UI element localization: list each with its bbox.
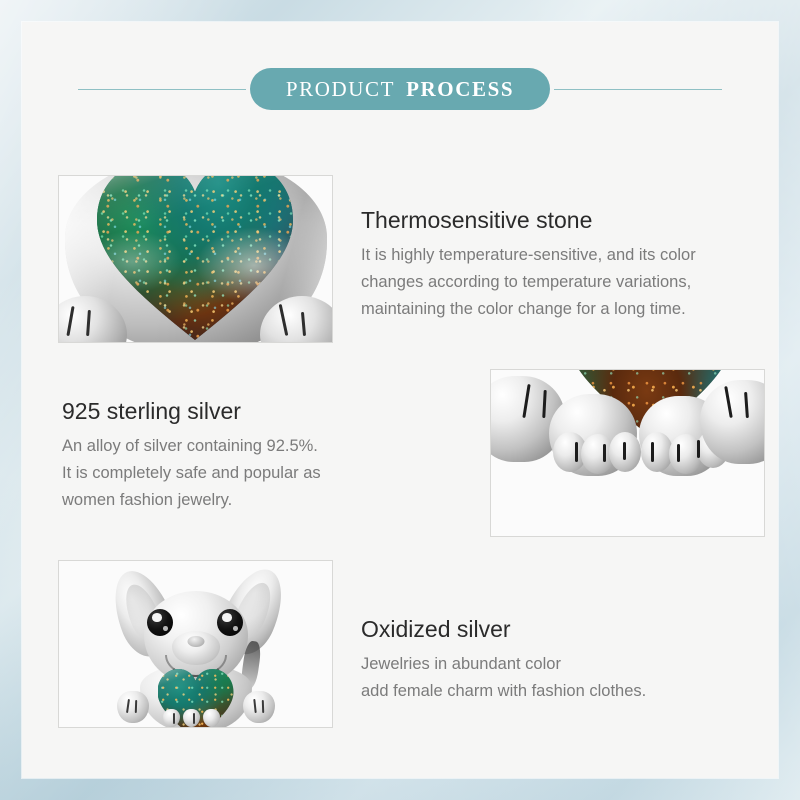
description-line: women fashion jewelry. bbox=[62, 487, 462, 514]
eye-highlight-small bbox=[233, 626, 238, 631]
feature-description: It is highly temperature-sensitive, and … bbox=[361, 242, 781, 322]
toe-claw-line bbox=[173, 713, 175, 724]
feature-image-925-sterling-silver bbox=[490, 369, 765, 537]
description-line: changes according to temperature variati… bbox=[361, 269, 781, 296]
feature-title: Oxidized silver bbox=[361, 616, 761, 642]
feature-description: Jewelries in abundant color add female c… bbox=[361, 651, 761, 704]
feature-text-925-sterling-silver: 925 sterling silver An alloy of silver c… bbox=[62, 398, 462, 514]
paw-claw-line bbox=[301, 312, 306, 336]
title-word-process: PROCESS bbox=[406, 77, 514, 102]
section-header: PRODUCT PROCESS bbox=[22, 68, 778, 110]
chihuahua-charm bbox=[103, 569, 289, 721]
feature-text-oxidized-silver: Oxidized silver Jewelries in abundant co… bbox=[361, 616, 761, 705]
feature-row-oxidized-silver: Oxidized silver Jewelries in abundant co… bbox=[58, 560, 761, 728]
content-panel: PRODUCT PROCESS bbox=[22, 22, 778, 778]
paw-claw-line bbox=[86, 310, 90, 336]
paw-claw-line bbox=[575, 442, 578, 462]
dog-eye-right bbox=[217, 609, 243, 636]
page-title: PRODUCT PROCESS bbox=[250, 68, 550, 110]
paw-claw-line bbox=[651, 442, 654, 462]
feature-text-thermosensitive-stone: Thermosensitive stone It is highly tempe… bbox=[361, 207, 781, 323]
foot-claw-line bbox=[261, 700, 263, 713]
feature-row-925-sterling-silver: 925 sterling silver An alloy of silver c… bbox=[58, 369, 765, 537]
paw-claw-line bbox=[66, 306, 74, 336]
feature-image-oxidized-silver bbox=[58, 560, 333, 728]
eye-highlight bbox=[222, 613, 231, 622]
foot-claw-line bbox=[253, 699, 256, 713]
toe-claw-line bbox=[193, 713, 195, 724]
description-line: add female charm with fashion clothes. bbox=[361, 678, 761, 705]
header-rule-left bbox=[78, 89, 246, 90]
eye-highlight-small bbox=[163, 626, 168, 631]
paw-claw-line bbox=[279, 304, 288, 336]
description-line: It is completely safe and popular as bbox=[62, 460, 462, 487]
feature-title: 925 sterling silver bbox=[62, 398, 462, 424]
header-rule-right bbox=[554, 89, 722, 90]
product-process-infographic: PRODUCT PROCESS bbox=[0, 0, 800, 800]
dog-nose bbox=[187, 636, 204, 647]
paw-claw-line bbox=[677, 444, 680, 462]
feature-image-thermosensitive-stone bbox=[58, 175, 333, 343]
foot-claw-line bbox=[134, 700, 136, 713]
dog-foot-right bbox=[243, 691, 275, 723]
eye-highlight bbox=[152, 613, 161, 622]
feature-row-thermosensitive-stone: Thermosensitive stone It is highly tempe… bbox=[58, 175, 781, 343]
title-word-product: PRODUCT bbox=[286, 77, 395, 102]
feature-description: An alloy of silver containing 92.5%. It … bbox=[62, 433, 462, 513]
feature-title: Thermosensitive stone bbox=[361, 207, 781, 233]
paw-claw-line bbox=[697, 440, 700, 458]
paw-claw-line bbox=[603, 444, 606, 462]
description-line: maintaining the color change for a long … bbox=[361, 296, 781, 323]
description-line: It is highly temperature-sensitive, and … bbox=[361, 242, 781, 269]
foot-claw-line bbox=[126, 699, 130, 713]
dog-eye-left bbox=[147, 609, 173, 636]
description-line: An alloy of silver containing 92.5%. bbox=[62, 433, 462, 460]
description-line: Jewelries in abundant color bbox=[361, 651, 761, 678]
paw-claw-line bbox=[623, 442, 626, 460]
dog-foot-left bbox=[117, 691, 149, 723]
